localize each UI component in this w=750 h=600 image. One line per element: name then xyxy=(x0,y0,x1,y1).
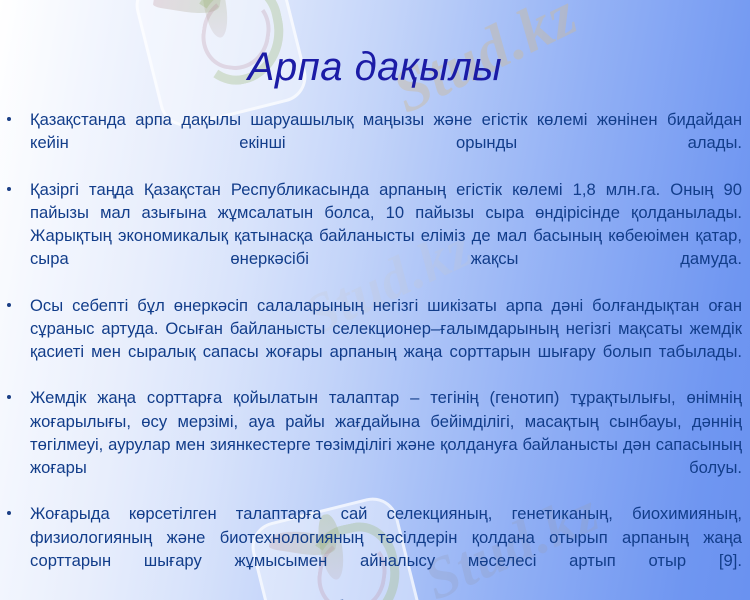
bullet-marker-icon xyxy=(7,511,11,515)
bullet-text: Жоғарыда көрсетілген талаптарға сай селе… xyxy=(30,502,742,595)
bullet-item: Қазақстанда арпа дақылы шаруашылық маңыз… xyxy=(0,108,750,178)
bullet-marker-icon xyxy=(7,303,11,307)
logo-body-shape xyxy=(200,0,231,39)
bullet-text: Қазіргі таңда Қазақстан Республикасында … xyxy=(30,178,742,294)
logo-wing-shape xyxy=(153,0,222,17)
bullet-marker-icon xyxy=(7,395,11,399)
bullet-item: Осы себепті бұл өнеркәсіп салаларының не… xyxy=(0,294,750,387)
bullet-item: Жоғарыда көрсетілген талаптарға сай селе… xyxy=(0,502,750,595)
bullet-item: Қазіргі таңда Қазақстан Республикасында … xyxy=(0,178,750,294)
bullet-item: Жемдік жаңа сорттарға қойылатын талаптар… xyxy=(0,386,750,502)
bullet-item: Дән – жем дақылдары селекциясы бөлімінің… xyxy=(0,595,750,600)
bullet-marker-icon xyxy=(7,187,11,191)
bullet-marker-icon xyxy=(7,117,11,121)
presentation-slide: Stud.kz Stud.kz Stud.kz Арпа дақылы Қаза… xyxy=(0,0,750,600)
bullet-text: Дән – жем дақылдары селекциясы бөлімінің… xyxy=(30,595,742,600)
bullet-text: Жемдік жаңа сорттарға қойылатын талаптар… xyxy=(30,386,742,502)
bullet-list: Қазақстанда арпа дақылы шаруашылық маңыз… xyxy=(0,108,750,600)
bullet-text: Қазақстанда арпа дақылы шаруашылық маңыз… xyxy=(30,108,742,178)
bullet-text: Осы себепті бұл өнеркәсіп салаларының не… xyxy=(30,294,742,387)
slide-title: Арпа дақылы xyxy=(0,46,750,88)
